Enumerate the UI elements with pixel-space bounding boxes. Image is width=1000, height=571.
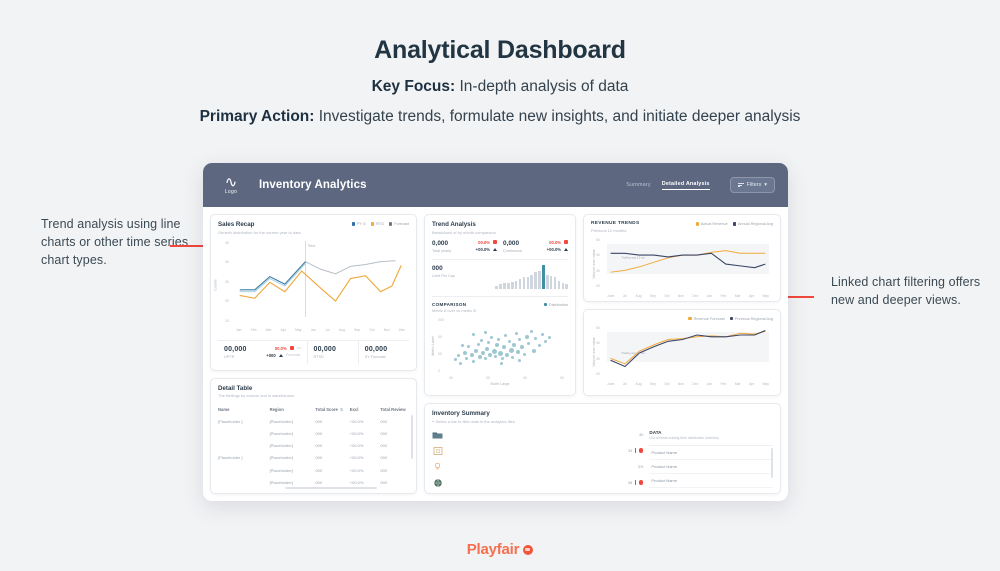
globe-icon <box>432 478 443 488</box>
scatter-point <box>465 357 468 360</box>
bulb-icon <box>432 462 443 472</box>
xtick: Jul <box>623 294 627 298</box>
sales-recap-chart[interactable]: Counts 35 30 25 20 15 Today <box>218 239 409 335</box>
app-title: Inventory Analytics <box>259 179 367 191</box>
xtick: Feb <box>720 382 726 386</box>
legend-item[interactable]: Previous Regional Avg <box>730 317 773 321</box>
ytick: 30 <box>225 260 229 264</box>
kpi-tile[interactable]: 00,000 UPTR 00.0% vs +000 <box>218 341 308 364</box>
cell-excl: +00.0% <box>350 480 381 485</box>
card-sales-recap: Sales Recap Generic distribution for the… <box>210 214 417 371</box>
th-region[interactable]: Region <box>270 407 316 412</box>
kpi-delta-pct: 00.0% <box>549 240 561 245</box>
product-trends-svg: Trailing avg 12 mo <box>607 326 769 372</box>
xtick: Jun <box>311 328 316 332</box>
cell-score: 000 <box>315 468 349 473</box>
legend-item[interactable]: PY G <box>352 222 366 226</box>
table-row[interactable]: [Placeholder] 000 +00.0% 000 <box>218 488 409 494</box>
cell-score: 000 <box>315 419 349 424</box>
revenue-trends-title: REVENUE TRENDS <box>591 221 639 226</box>
legend-item[interactable]: Distribution <box>544 303 568 307</box>
cell-score: 000 <box>315 455 349 460</box>
product-xticks: June Jul Aug Sep Oct Nov Dec Jan Feb Mar <box>607 382 769 386</box>
kpi-delta-note: Forecast <box>286 353 301 357</box>
kpi-tile[interactable]: 00,000 RTSD <box>308 341 359 364</box>
xtick: May <box>295 328 301 332</box>
revenue-trends-head: REVENUE TRENDS Previous 12 months Actual… <box>591 221 773 233</box>
legend-swatch <box>730 317 733 320</box>
inventory-summary-subtitle-text: Select a bar to filter data in the analy… <box>436 419 515 424</box>
legend-item[interactable]: RTG <box>371 222 384 226</box>
table-row[interactable]: [Placeholder ] [Placeholder] 000 +00.0% … <box>218 452 409 464</box>
xtick: Oct <box>664 382 669 386</box>
cell-name: [Placeholder ] <box>218 419 270 424</box>
xtick: 00 <box>523 376 527 380</box>
legend-swatch <box>733 222 736 225</box>
histogram-bar[interactable] <box>523 277 526 288</box>
filters-button[interactable]: Filters ▾ <box>730 177 775 193</box>
bar-row[interactable]: 40 <box>432 430 643 440</box>
logo-label: Logo <box>216 189 246 195</box>
xtick: 000 <box>476 494 482 495</box>
histogram-bar[interactable] <box>527 277 530 289</box>
scatter-point <box>484 357 487 360</box>
scatter-point <box>504 334 507 337</box>
tab-detailed-analysis[interactable]: Detailed Analysis <box>662 181 710 190</box>
cell-region: [Placeholder] <box>270 468 316 473</box>
cell-region: [Placeholder] <box>270 455 316 460</box>
histogram-bar-selected[interactable] <box>542 265 545 289</box>
xtick: Apr <box>281 328 286 332</box>
legend-swatch <box>688 317 691 320</box>
cell-excl: +00.0% <box>350 443 381 448</box>
scatter-point <box>512 343 516 347</box>
table-row[interactable]: [Placeholder] 000 +00.0% 000 <box>218 427 409 439</box>
legend-item[interactable]: Revenue Forecast <box>688 317 724 321</box>
ytick: 30 <box>596 269 600 273</box>
cell-review: 000 <box>380 455 409 460</box>
cell-excl: +00.0% <box>350 455 381 460</box>
inventory-xticks: 0 000 000 000 000 000 000 <box>432 494 643 495</box>
ytick: 40 <box>596 253 600 257</box>
revenue-annotation: Trailing avg 12 mo <box>621 255 645 259</box>
xtick: 000 <box>541 494 547 495</box>
info-list: Product Name Product Name Product Name P… <box>649 445 773 494</box>
legend-label: Actual Revenue <box>701 222 728 226</box>
product-trends-chart[interactable]: Volume over value 50 40 30 20 <box>591 326 773 388</box>
kpi-label: Total yearly <box>432 249 476 253</box>
filters-label: Filters <box>747 182 762 188</box>
kpi-delta-bold: +000 <box>266 353 275 358</box>
scatter-point <box>495 343 499 347</box>
left-column: Sales Recap Generic distribution for the… <box>210 214 417 494</box>
scatter-ylabel: Metric Label <box>431 336 435 356</box>
playfair-logo[interactable]: Playfair <box>467 541 534 558</box>
xtick: Aug <box>635 382 641 386</box>
cell-review: 000 <box>380 443 409 448</box>
primary-action-text: Investigate trends, formulate new insigh… <box>319 108 801 125</box>
key-focus-line: Key Focus: In-depth analysis of data <box>0 78 1000 96</box>
scatter-point <box>498 351 503 356</box>
bar-track <box>448 430 634 439</box>
ytick: 000 <box>438 318 444 322</box>
kpi-delta-marker <box>290 346 294 350</box>
xtick: 00 <box>449 376 453 380</box>
kpi-label: SY Forecast <box>365 355 403 359</box>
kpi-delta-pct: 00.0% <box>478 240 490 245</box>
histogram-bar[interactable] <box>538 271 541 289</box>
scatter-point <box>461 344 464 347</box>
kpi-delta-muted: vs <box>297 346 301 350</box>
xtick: 0 <box>448 494 450 495</box>
annotation-right: Linked chart filtering offers new and de… <box>831 273 996 309</box>
legend-swatch <box>696 222 699 225</box>
legend-label: RTG <box>376 222 384 226</box>
kpi-label: RTSD <box>314 355 352 359</box>
filter-hint-icon: ◓ <box>432 419 434 424</box>
th-excl[interactable]: Excl <box>350 407 381 412</box>
xtick: Jan <box>707 382 712 386</box>
scatter-point <box>502 345 506 349</box>
card-detail-table: Detail Table The findings by custom and … <box>210 378 417 495</box>
table-horizontal-scrollbar[interactable] <box>285 487 377 489</box>
bar-meta: 08 <box>628 480 643 485</box>
bar-value: 08 <box>628 481 632 485</box>
xtick: Aug <box>635 294 641 298</box>
histogram-bar[interactable] <box>558 281 561 289</box>
histogram-bar[interactable] <box>562 283 565 289</box>
th-total-review[interactable]: Total Review <box>380 407 409 412</box>
xtick: Mar <box>266 328 272 332</box>
cell-review: 000 <box>380 468 409 473</box>
scatter-point <box>544 340 547 343</box>
bar-meta: 40 <box>639 433 643 437</box>
product-trends-head: Revenue Forecast Previous Regional Avg <box>591 316 773 321</box>
ytick: 20 <box>596 372 600 376</box>
histogram-bar[interactable] <box>499 284 502 288</box>
revenue-trends-chart[interactable]: Volume over value 50 40 30 20 <box>591 238 773 300</box>
legend-item[interactable]: Forecast <box>389 222 409 226</box>
kpi-delta-pct: 00.0% <box>275 346 287 351</box>
scatter-point <box>467 345 470 348</box>
xtick: Oct <box>664 294 669 298</box>
detail-table-title: Detail Table <box>218 385 409 392</box>
cell-excl: +00.0% <box>350 468 381 473</box>
sales-recap-legend: PY G RTG Forecast <box>352 221 409 226</box>
xtick: Mar <box>735 382 741 386</box>
analysis-row: Trend Analysis Breakdown of by month com… <box>424 214 781 396</box>
legend-label: Forecast <box>394 222 409 226</box>
bar-meta: 34 <box>628 448 643 453</box>
playfair-wordmark: Playfair <box>467 541 520 558</box>
histogram-bar[interactable] <box>565 284 568 288</box>
ytick: 40 <box>596 341 600 345</box>
page-title: Analytical Dashboard <box>0 36 1000 65</box>
xtick: Jul <box>623 382 627 386</box>
comparison-scatter[interactable]: Metric Label 000 00 00 0 <box>432 318 568 384</box>
scatter-point <box>487 341 490 344</box>
scatter-point <box>472 333 475 336</box>
scatter-point <box>497 338 500 341</box>
xtick: 000 <box>509 494 515 495</box>
table-header-row: Name Region Total Score⇅ Excl Total Revi… <box>218 403 409 415</box>
scatter-point <box>511 356 514 359</box>
scatter-point <box>500 362 503 365</box>
info-list-scrollbar[interactable] <box>771 448 773 478</box>
info-subtitle: List of items making their distribution … <box>649 436 773 440</box>
xtick: May <box>763 294 769 298</box>
cell-score: 000 <box>315 431 349 436</box>
page-header: Analytical Dashboard Key Focus: In-depth… <box>0 0 1000 126</box>
ytick: 50 <box>596 238 600 242</box>
cell-excl: +00.0% <box>350 492 381 494</box>
tab-summary[interactable]: Summary <box>626 182 650 188</box>
xtick: Feb <box>720 294 726 298</box>
trend-analysis-title: Trend Analysis <box>432 221 568 228</box>
inventory-summary-title: Inventory Summary <box>432 410 773 417</box>
comparison-legend: Distribution <box>544 302 568 307</box>
scatter-point <box>501 357 504 360</box>
kpi-value: 00,000 <box>365 346 403 353</box>
primary-action-line: Primary Action: Investigate trends, form… <box>0 108 1000 126</box>
cell-region: [Placeholder] <box>270 419 316 424</box>
histogram-bar[interactable] <box>546 275 549 289</box>
bar-row[interactable]: 08 <box>432 478 643 488</box>
kpi-delta-bold: +00.0% <box>547 247 561 252</box>
ytick: 00 <box>438 335 444 339</box>
revenue-yticks: 50 40 30 20 <box>596 238 600 289</box>
list-item[interactable]: Product Name <box>649 488 773 494</box>
scatter-xticks: 00 00 00 00 <box>449 376 564 380</box>
sales-recap-xticks: Jan Feb Mar Apr May Jun Jul Aug Sep Oct … <box>236 328 405 332</box>
bar-flag-line <box>635 448 636 453</box>
filter-icon <box>738 183 744 187</box>
legend-label: Revenue Forecast <box>694 317 725 321</box>
histogram-bar[interactable] <box>550 276 553 289</box>
legend-swatch <box>352 222 355 225</box>
trend-analysis-subtitle: Breakdown of by month comparison. <box>432 230 568 235</box>
sales-recap-yticks: 35 30 25 20 15 <box>225 241 229 323</box>
legend-item[interactable]: Annual Regional Avg <box>733 222 773 226</box>
cell-name: [Placeholder ] <box>218 455 270 460</box>
kpi-tile[interactable]: 0,000 Continuous 00.0% +00.0% <box>503 240 568 253</box>
list-item[interactable]: Product Name <box>649 460 773 474</box>
table-row[interactable]: [Placeholder ] [Placeholder] 000 +00.0% … <box>218 415 409 427</box>
scatter-point <box>525 335 529 339</box>
table-row[interactable]: [Placeholder] 000 +00.0% 000 <box>218 440 409 452</box>
xtick: Jul <box>325 328 329 332</box>
th-name[interactable]: Name <box>218 407 270 412</box>
xtick: Mar <box>735 294 741 298</box>
kpi-tile[interactable]: 0,000 Total yearly 00.0% +00.0% <box>432 240 497 253</box>
xtick: Nov <box>678 382 684 386</box>
bar-track <box>448 446 623 455</box>
histogram-bar[interactable] <box>554 277 557 288</box>
scatter-point <box>534 337 537 340</box>
histogram-bar[interactable] <box>530 275 533 289</box>
cell-score: 000 <box>315 443 349 448</box>
cell-region: [Placeholder] <box>270 431 316 436</box>
histogram-bar[interactable] <box>503 283 506 288</box>
scatter-xlabel: North Large <box>432 382 568 386</box>
bar-alert-dot[interactable] <box>639 448 644 453</box>
legend-swatch <box>371 222 374 225</box>
xtick: Feb <box>251 328 257 332</box>
histogram-chart[interactable] <box>495 265 568 289</box>
histogram-bar[interactable] <box>515 281 518 289</box>
cell-review: 000 <box>380 431 409 436</box>
scatter-point <box>490 336 493 339</box>
triangle-up-icon <box>493 248 497 251</box>
kpi-value: 0,000 <box>432 240 476 247</box>
scatter-point <box>516 350 520 354</box>
legend-label: PY G <box>357 222 366 226</box>
xtick: 00 <box>486 376 490 380</box>
key-focus-text: In-depth analysis of data <box>459 78 628 95</box>
card-product-trends: Revenue Forecast Previous Regional Avg V… <box>583 309 781 397</box>
xtick: Sep <box>650 294 656 298</box>
cell-region: [Placeholder] <box>270 480 316 485</box>
ytick: 20 <box>596 284 600 288</box>
kpi-delta: 00.0% vs +000 Forecast <box>266 346 300 359</box>
legend-label: Distribution <box>549 303 568 307</box>
scatter-point <box>527 342 530 345</box>
sales-recap-title: Sales Recap <box>218 221 302 228</box>
histogram-value: 000 <box>432 265 455 272</box>
table-row[interactable]: [Placeholder] 000 +00.0% 000 <box>218 464 409 476</box>
scatter-point <box>484 331 487 334</box>
product-trends-legend: Revenue Forecast Previous Regional Avg <box>688 316 773 321</box>
sales-recap-ylabel: Counts <box>214 279 218 290</box>
list-item[interactable]: Product Name <box>649 474 773 488</box>
scatter-point <box>518 338 521 341</box>
scatter-point <box>515 332 518 335</box>
sales-recap-kpis: 00,000 UPTR 00.0% vs +000 <box>218 340 409 364</box>
top-nav: Summary Detailed Analysis Filters ▾ <box>626 177 775 193</box>
footer: Playfair <box>0 541 1000 559</box>
scatter-point <box>459 362 462 365</box>
ytick: 50 <box>596 326 600 330</box>
info-panel: DATA List of items making their distribu… <box>649 430 773 495</box>
scatter-point <box>548 336 551 339</box>
scatter-point <box>470 353 474 357</box>
trend-analysis-kpis: 0,000 Total yearly 00.0% +00.0% <box>432 240 568 253</box>
scatter-point <box>463 351 467 355</box>
box-icon <box>432 430 443 440</box>
xtick: Apr <box>749 294 754 298</box>
xtick: 000 <box>605 494 611 495</box>
sort-icon[interactable]: ⇅ <box>340 407 343 412</box>
xtick: June <box>607 382 614 386</box>
bar-flag-line <box>635 480 636 485</box>
kpi-delta-bold: +00.0% <box>476 247 490 252</box>
histogram-bar[interactable] <box>511 282 514 289</box>
card-trend-analysis: Trend Analysis Breakdown of by month com… <box>424 214 576 396</box>
legend-label: Previous Regional Avg <box>735 317 773 321</box>
scatter-point <box>472 360 475 363</box>
card-inventory-summary: Inventory Summary ◓ Select a bar to filt… <box>424 403 781 494</box>
cell-review: 000 <box>380 492 409 494</box>
scatter-point <box>481 351 485 355</box>
limit-per-cap-block: 000 Limit Per Cap <box>432 259 568 289</box>
sales-recap-head: Sales Recap Generic distribution for the… <box>218 221 409 235</box>
xtick: Dec <box>692 294 698 298</box>
scatter-point <box>518 359 521 362</box>
comparison-head: COMPARISON Metric A over vs metric B Dis… <box>432 296 568 314</box>
scatter-point <box>488 353 492 357</box>
logo[interactable]: ∿ Logo <box>216 176 246 195</box>
xtick: Dec <box>692 382 698 386</box>
kpi-value: 0,000 <box>503 240 547 247</box>
scatter-yticks: 000 00 00 0 <box>438 318 444 373</box>
cell-score: 000 <box>315 492 349 494</box>
scatter-point <box>454 358 457 361</box>
list-item[interactable]: Product Name <box>649 446 773 460</box>
histogram-bar[interactable] <box>495 286 498 289</box>
xtick: Sep <box>354 328 360 332</box>
right-column: Trend Analysis Breakdown of by month com… <box>424 214 781 494</box>
th-total-score[interactable]: Total Score⇅ <box>315 407 349 412</box>
xtick: Sep <box>650 382 656 386</box>
revenue-xticks: June Jul Aug Sep Oct Nov Dec Jan Feb Mar <box>607 294 769 298</box>
scatter-point <box>505 353 509 357</box>
histogram-bar[interactable] <box>519 279 522 288</box>
comparison-subtitle: Metric A over vs metric B <box>432 308 476 313</box>
th-total-score-label: Total Score <box>315 407 338 412</box>
xtick: 000 <box>573 494 579 495</box>
histogram-bar[interactable] <box>507 283 510 289</box>
histogram-label: Limit Per Cap <box>432 274 455 278</box>
legend-item[interactable]: Actual Revenue <box>696 222 728 226</box>
xtick: Jan <box>236 328 241 332</box>
revenue-trends-svg: Trailing avg 12 mo <box>607 238 769 284</box>
scatter-point <box>530 330 533 333</box>
xtick: Dec <box>399 328 405 332</box>
scatter-point <box>477 343 480 346</box>
scatter-point <box>538 344 541 347</box>
scatter-point <box>478 355 482 359</box>
xtick: 00 <box>560 376 564 380</box>
kpi-tile[interactable]: 00,000 SY Forecast <box>359 341 409 364</box>
kpi-label: UPTR <box>224 355 266 359</box>
xtick: Nov <box>678 294 684 298</box>
inventory-summary-body: 40 34 <box>432 430 773 495</box>
cell-region: [Placeholder] <box>270 492 316 494</box>
bar-row[interactable]: 3% <box>432 462 643 472</box>
scatter-point <box>474 349 478 353</box>
info-title: DATA <box>649 430 773 435</box>
bar-row[interactable]: 34 <box>432 446 643 456</box>
trend-charts-column: REVENUE TRENDS Previous 12 months Actual… <box>583 214 781 396</box>
bar-meta: 3% <box>638 465 644 469</box>
xtick: Apr <box>749 382 754 386</box>
bar-track <box>448 462 633 471</box>
table-vertical-scrollbar[interactable] <box>411 415 413 459</box>
ytick: 25 <box>225 280 229 284</box>
scatter-point <box>492 349 497 354</box>
revenue-trends-legend: Actual Revenue Annual Regional Avg <box>696 221 773 226</box>
comparison-title: COMPARISON <box>432 302 476 307</box>
histogram-bar[interactable] <box>534 272 537 288</box>
bar-alert-dot[interactable] <box>639 480 644 485</box>
xtick: Oct <box>369 328 374 332</box>
ytick: 0 <box>438 369 444 373</box>
scatter-point <box>509 348 514 353</box>
xtick: June <box>607 294 614 298</box>
kpi-value: 00,000 <box>224 346 266 353</box>
scatter-point <box>508 340 511 343</box>
legend-swatch <box>389 222 392 225</box>
